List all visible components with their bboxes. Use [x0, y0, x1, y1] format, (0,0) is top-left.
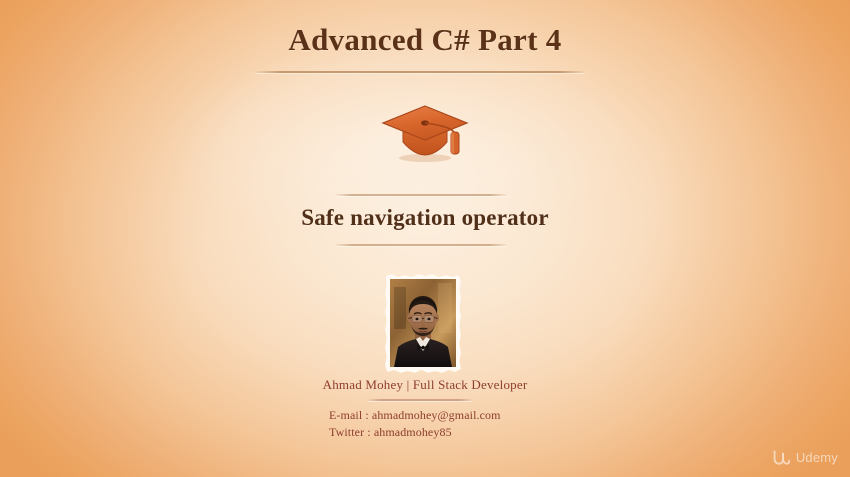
contact-email: E-mail : ahmadmohey@gmail.com	[329, 407, 501, 424]
title-divider	[255, 71, 585, 73]
credit-divider	[368, 399, 472, 401]
graduation-cap-icon	[379, 98, 471, 166]
slide-title: Advanced C# Part 4	[0, 22, 850, 58]
contact-block: E-mail : ahmadmohey@gmail.com Twitter : …	[329, 407, 501, 441]
subtitle-divider-bottom	[335, 244, 507, 246]
slide-subtitle: Safe navigation operator	[0, 205, 850, 231]
udemy-logo-icon	[772, 449, 791, 466]
instructor-name: Ahmad Mohey | Full Stack Developer	[0, 377, 850, 393]
udemy-wordmark: Udemy	[796, 450, 838, 465]
instructor-portrait	[390, 279, 456, 367]
contact-twitter: Twitter : ahmadmohey85	[329, 424, 501, 441]
instructor-photo-frame	[385, 274, 461, 373]
subtitle-divider-top	[335, 194, 507, 196]
udemy-watermark: Udemy	[772, 449, 838, 466]
presentation-slide: Advanced C# Part 4	[0, 0, 850, 477]
